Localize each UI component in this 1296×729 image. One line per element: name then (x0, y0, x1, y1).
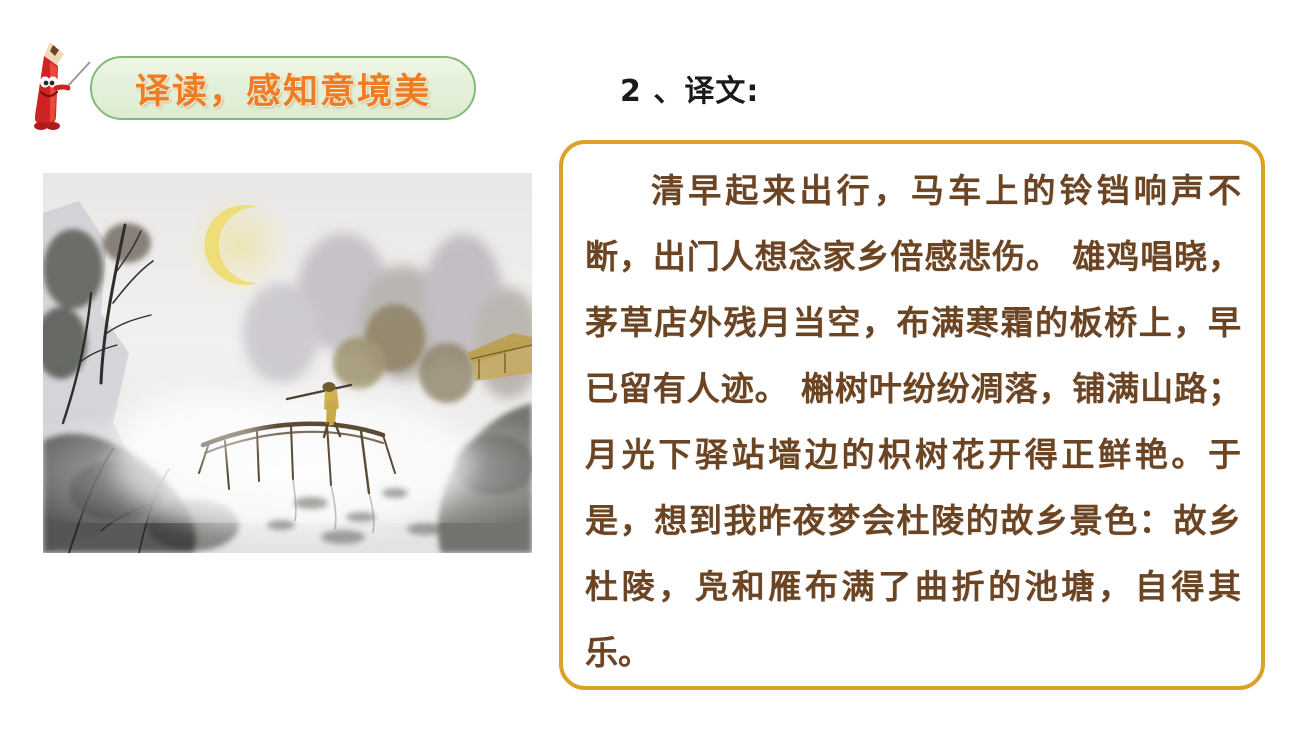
translation-panel: 清早起来出行，马车上的铃铛响声不断，出门人想念家乡倍感悲伤。 雄鸡唱晓，茅草店外… (559, 140, 1265, 690)
translation-text: 清早起来出行，马车上的铃铛响声不断，出门人想念家乡倍感悲伤。 雄鸡唱晓，茅草店外… (585, 158, 1241, 686)
ink-landscape-painting (43, 173, 532, 553)
left-column: 译读，感知意境美 (0, 0, 545, 729)
slide-root: 译读，感知意境美 (0, 0, 1296, 729)
page-title: 2 、译文: (620, 66, 759, 110)
section-banner: 译读，感知意境美 (90, 56, 476, 120)
right-column: 2 、译文: 清早起来出行，马车上的铃铛响声不断，出门人想念家乡倍感悲伤。 雄鸡… (545, 0, 1296, 729)
section-banner-label: 译读，感知意境美 (135, 63, 431, 114)
pencil-mascot-icon (26, 36, 92, 132)
